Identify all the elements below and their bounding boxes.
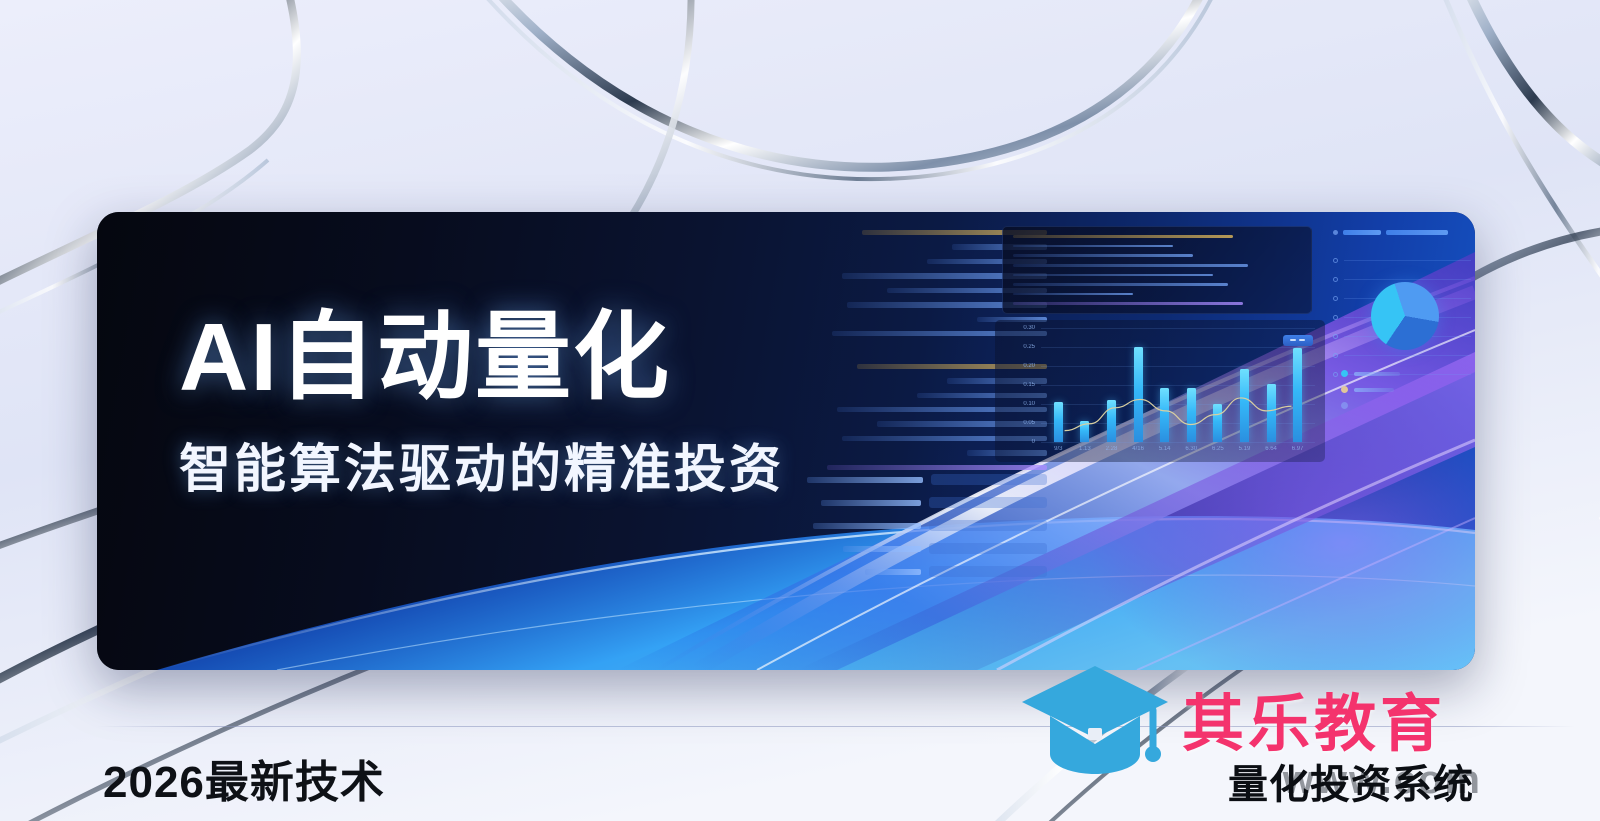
pie-panel-header: [1333, 230, 1469, 235]
y-axis-tick: 0.15: [1023, 382, 1035, 388]
row-bullet-icon: [1333, 258, 1338, 263]
progress-bar-track[interactable]: [929, 497, 1047, 508]
hero-text-block: AI自动量化 智能算法驱动的精准投资: [179, 308, 784, 502]
caption-left: 2026最新技术: [103, 746, 385, 810]
grid-line: [1041, 442, 1315, 443]
pie-chart-panel: [1327, 222, 1475, 437]
x-axis-tick: 1.13: [1079, 446, 1091, 452]
row-bullet-icon: [1333, 372, 1338, 377]
legend-item[interactable]: [1341, 402, 1400, 409]
graduation-cap-icon: [1020, 658, 1170, 778]
brand-name: 其乐教育: [1182, 673, 1446, 763]
row-bullet-icon: [1333, 334, 1338, 339]
x-axis-tick: 5.14: [1159, 446, 1171, 452]
trend-line: [1041, 328, 1315, 442]
row-line: [1344, 355, 1471, 356]
progress-bar-row: [807, 497, 1047, 508]
progress-bar-track[interactable]: [929, 543, 1047, 554]
code-line: [1013, 302, 1243, 305]
x-axis-tick: 9/3: [1054, 446, 1062, 452]
row-bullet-icon: [1333, 296, 1338, 301]
x-axis-tick: 5.19: [1239, 446, 1251, 452]
code-line: [1013, 254, 1193, 257]
bar-chart-panel: 0.300.250.200.150.100.0509/31.132.284/16…: [995, 320, 1325, 462]
code-snippet-panel: [1002, 226, 1312, 314]
code-line: [827, 465, 1047, 470]
progress-bar-track[interactable]: [929, 520, 1047, 531]
y-axis-tick: 0.05: [1023, 420, 1035, 426]
progress-bar-row: [807, 566, 1047, 577]
analytics-dashboard: 0.300.250.200.150.100.0509/31.132.284/16…: [797, 212, 1475, 670]
legend-color-swatch: [1341, 386, 1348, 393]
progress-bar-row: [807, 520, 1047, 531]
hero-card: AI自动量化 智能算法驱动的精准投资 0.300.250.200.150.100…: [97, 212, 1475, 670]
progress-bar-track[interactable]: [929, 566, 1047, 577]
progress-bar-label: [807, 477, 923, 483]
bullet-icon: [1333, 230, 1338, 235]
code-line: [1013, 274, 1213, 277]
y-axis-tick: 0.20: [1023, 363, 1035, 369]
progress-bar-row: [807, 543, 1047, 554]
x-axis-tick: 6.30: [1185, 446, 1197, 452]
bar-chart-plot: 0.300.250.200.150.100.0509/31.132.284/16…: [1041, 328, 1315, 442]
code-line: [1013, 235, 1233, 238]
header-bar-short: [1343, 230, 1381, 235]
legend-color-swatch: [1341, 370, 1348, 377]
legend-label: [1354, 388, 1394, 392]
legend-item[interactable]: [1341, 386, 1400, 393]
progress-bar-row: [807, 474, 1047, 485]
legend-color-swatch: [1341, 402, 1348, 409]
code-line: [1013, 293, 1133, 296]
hero-title: AI自动量化: [179, 308, 784, 409]
hero-subtitle: 智能算法驱动的精准投资: [179, 427, 784, 502]
code-line: [1013, 264, 1248, 267]
progress-bar-label: [813, 523, 921, 529]
progress-bar-label: [821, 500, 921, 506]
x-axis-tick: 6.64: [1265, 446, 1277, 452]
x-axis-tick: 6.97: [1292, 446, 1304, 452]
caption-right: 量化投资系统: [1228, 752, 1474, 810]
pie-panel-row: [1333, 353, 1471, 358]
pie-chart-legend: [1341, 370, 1400, 409]
row-line: [1344, 279, 1471, 280]
pie-panel-row: [1333, 258, 1471, 263]
header-bar-long: [1386, 230, 1448, 235]
code-line: [1013, 245, 1173, 248]
x-axis-tick: 4/16: [1132, 446, 1144, 452]
horizontal-bar-chart: [807, 474, 1047, 577]
y-axis-tick: 0.25: [1023, 344, 1035, 350]
row-line: [1344, 260, 1471, 261]
code-line: [1013, 283, 1228, 286]
progress-bar-track[interactable]: [931, 474, 1047, 485]
pie-chart: [1371, 282, 1439, 350]
y-axis-tick: 0: [1032, 439, 1035, 445]
legend-label: [1354, 372, 1400, 376]
progress-bar-label: [865, 569, 921, 575]
x-axis-tick: 6.25: [1212, 446, 1224, 452]
row-bullet-icon: [1333, 277, 1338, 282]
legend-item[interactable]: [1341, 370, 1400, 377]
row-bullet-icon: [1333, 353, 1338, 358]
progress-bar-label: [843, 546, 921, 552]
y-axis-tick: 0.10: [1023, 401, 1035, 407]
y-axis-tick: 0.30: [1023, 325, 1035, 331]
row-bullet-icon: [1333, 315, 1338, 320]
x-axis-tick: 2.28: [1106, 446, 1118, 452]
